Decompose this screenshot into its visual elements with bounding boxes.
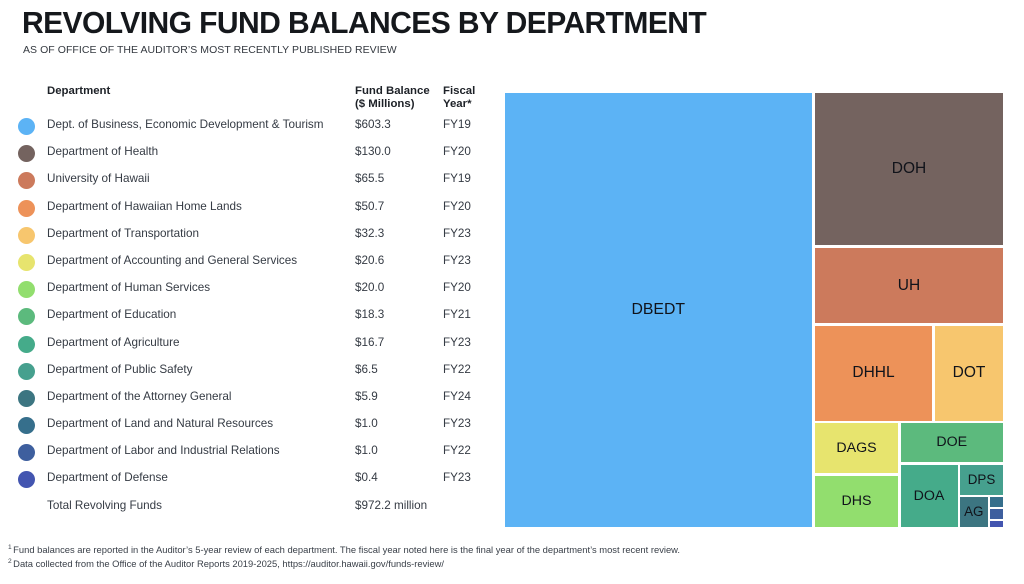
cell-fund-balance: $18.3 [355,308,384,321]
page-subtitle: AS OF OFFICE OF THE AUDITOR’S MOST RECEN… [23,44,397,56]
table-row: Department of Labor and Industrial Relat… [18,439,488,466]
cell-department: Department of Human Services [47,281,210,294]
cell-fund-balance: $603.3 [355,118,391,131]
cell-department: Department of Labor and Industrial Relat… [47,444,280,457]
legend-color-swatch [18,227,35,244]
cell-fiscal-year: FY19 [443,118,471,131]
treemap-tile-dhhl[interactable]: DHHL [815,326,932,421]
legend-color-swatch [18,281,35,298]
treemap-tile-label: UH [898,278,920,294]
column-header-fiscal-year-line2: Year* [443,98,475,111]
column-header-department: Department [47,85,110,98]
treemap-tile-doh[interactable]: DOH [815,93,1003,245]
cell-fund-balance: $50.7 [355,200,384,213]
legend-color-swatch [18,172,35,189]
footnote-text: Fund balances are reported in the Audito… [13,544,680,555]
cell-fund-balance: $1.0 [355,417,378,430]
cell-department: Department of Agriculture [47,336,180,349]
cell-department: Department of Hawaiian Home Lands [47,200,242,213]
cell-department: Department of Health [47,145,158,158]
table-row: Department of Land and Natural Resources… [18,412,488,439]
table-row: Department of Transportation$32.3FY23 [18,222,488,249]
treemap-tile-doe[interactable]: DOE [901,423,1004,462]
table-row: Department of Defense$0.4FY23 [18,466,488,493]
legend-color-swatch [18,336,35,353]
department-legend-table: Department Fund Balance ($ Millions) Fis… [18,83,488,521]
column-header-fund-balance: Fund Balance ($ Millions) [355,85,430,112]
table-row: Department of Education$18.3FY21 [18,303,488,330]
treemap-tile-dps[interactable]: DPS [960,465,1003,495]
footnote: 1Fund balances are reported in the Audit… [8,543,1008,557]
legend-color-swatch [18,308,35,325]
table-row: Department of Agriculture$16.7FY23 [18,331,488,358]
table-row: Department of Hawaiian Home Lands$50.7FY… [18,195,488,222]
legend-color-swatch [18,145,35,162]
total-amount: $972.2 million [355,499,427,512]
legend-color-swatch [18,363,35,380]
table-row: University of Hawaii$65.5FY19 [18,167,488,194]
column-header-fiscal-year: Fiscal Year* [443,85,475,112]
legend-color-swatch [18,444,35,461]
table-row: Dept. of Business, Economic Development … [18,113,488,140]
table-row: Department of Accounting and General Ser… [18,249,488,276]
legend-color-swatch [18,118,35,135]
footnote-text: Data collected from the Office of the Au… [13,558,444,569]
cell-fiscal-year: FY23 [443,227,471,240]
treemap-tile-label: DAGS [836,441,876,455]
cell-fund-balance: $6.5 [355,363,378,376]
treemap-tile-dot[interactable]: DOT [935,326,1003,421]
treemap-chart: DBEDTDOHUHDHHLDOTDAGSDHSDOEDOADPSAG [505,93,1003,527]
table-total-row: Total Revolving Funds$972.2 million [18,494,488,521]
cell-fiscal-year: FY24 [443,390,471,403]
cell-fiscal-year: FY21 [443,308,471,321]
cell-fund-balance: $5.9 [355,390,378,403]
treemap-tile-label: DOE [936,435,967,449]
treemap-tile-label: DBEDT [631,302,685,318]
cell-fund-balance: $1.0 [355,444,378,457]
treemap-tile-uh[interactable]: UH [815,248,1003,323]
cell-fiscal-year: FY20 [443,200,471,213]
treemap-tile-label: DOT [953,365,986,381]
treemap-tile-label: DOA [914,489,945,503]
cell-fund-balance: $32.3 [355,227,384,240]
cell-fiscal-year: FY22 [443,444,471,457]
cell-department: Department of Transportation [47,227,199,240]
column-header-fund-balance-line1: Fund Balance [355,85,430,98]
cell-fiscal-year: FY23 [443,336,471,349]
treemap-tile-label: DOH [892,161,926,177]
treemap-tile-dhs[interactable]: DHS [815,476,898,528]
legend-color-swatch [18,200,35,217]
legend-color-swatch [18,254,35,271]
treemap-tile-dlir[interactable] [990,509,1003,519]
treemap-tile-ag[interactable]: AG [960,497,988,527]
page-title: REVOLVING FUND BALANCES BY DEPARTMENT [22,6,706,41]
cell-fiscal-year: FY19 [443,172,471,185]
cell-department: Department of Education [47,308,176,321]
cell-fund-balance: $130.0 [355,145,391,158]
infographic-page: REVOLVING FUND BALANCES BY DEPARTMENT AS… [0,0,1024,584]
table-row: Department of Public Safety$6.5FY22 [18,358,488,385]
legend-color-swatch [18,417,35,434]
cell-fiscal-year: FY23 [443,254,471,267]
cell-department: University of Hawaii [47,172,150,185]
cell-fund-balance: $20.0 [355,281,384,294]
cell-department: Department of Defense [47,471,168,484]
column-header-fund-balance-line2: ($ Millions) [355,98,430,111]
table-header-row: Department Fund Balance ($ Millions) Fis… [18,83,488,113]
legend-color-swatch [18,390,35,407]
table-row: Department of Human Services$20.0FY20 [18,276,488,303]
cell-fiscal-year: FY23 [443,417,471,430]
cell-department: Dept. of Business, Economic Development … [47,118,324,131]
cell-department: Department of Public Safety [47,363,193,376]
table-row: Department of Health$130.0FY20 [18,140,488,167]
cell-department: Department of Accounting and General Ser… [47,254,297,267]
cell-fund-balance: $16.7 [355,336,384,349]
cell-fund-balance: $20.6 [355,254,384,267]
treemap-tile-dlnr[interactable] [990,497,1003,507]
footnote: 2Data collected from the Office of the A… [8,557,1008,571]
total-label: Total Revolving Funds [47,499,162,512]
cell-department: Department of Land and Natural Resources [47,417,273,430]
treemap-tile-dbedt[interactable]: DBEDT [505,93,812,527]
treemap-tile-dags[interactable]: DAGS [815,423,898,473]
column-header-fiscal-year-line1: Fiscal [443,85,475,98]
cell-fiscal-year: FY20 [443,281,471,294]
treemap-tile-label: DHS [842,494,872,508]
treemap-tile-label: DPS [968,473,996,486]
cell-fiscal-year: FY20 [443,145,471,158]
treemap-tile-dod[interactable] [990,521,1003,527]
legend-color-swatch [18,471,35,488]
footnotes: 1Fund balances are reported in the Audit… [8,543,1008,571]
treemap-tile-doa[interactable]: DOA [901,465,958,528]
cell-fiscal-year: FY22 [443,363,471,376]
cell-department: Department of the Attorney General [47,390,232,403]
cell-fund-balance: $65.5 [355,172,384,185]
table-row: Department of the Attorney General$5.9FY… [18,385,488,412]
treemap-tile-label: DHHL [852,365,894,381]
table-body: Dept. of Business, Economic Development … [18,113,488,521]
cell-fiscal-year: FY23 [443,471,471,484]
treemap-tile-label: AG [964,505,983,518]
cell-fund-balance: $0.4 [355,471,378,484]
